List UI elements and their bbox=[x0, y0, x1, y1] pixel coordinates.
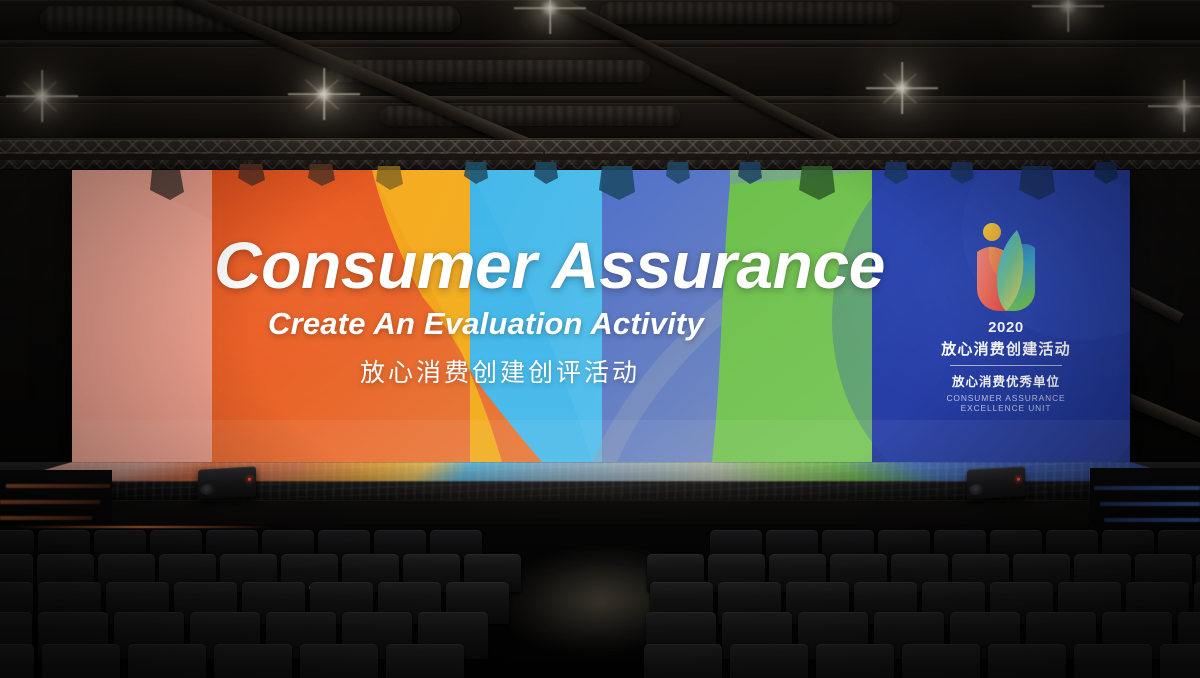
spotlight-truss-group bbox=[0, 130, 1200, 360]
speaker-grille bbox=[200, 484, 216, 496]
audience-seat bbox=[730, 644, 808, 678]
ceiling-lamp bbox=[1182, 104, 1186, 108]
speaker-grille bbox=[969, 484, 985, 496]
audience-seat bbox=[128, 644, 206, 678]
ceiling-duct bbox=[380, 106, 680, 126]
audience-seat bbox=[988, 644, 1066, 678]
speaker-led bbox=[248, 478, 251, 481]
ceiling-duct bbox=[600, 2, 900, 24]
audience-seat bbox=[902, 644, 980, 678]
stage-monitor-speaker bbox=[198, 466, 256, 499]
stair-step bbox=[1094, 486, 1200, 490]
stage-monitor-speaker bbox=[967, 466, 1025, 499]
ceiling-beam bbox=[0, 40, 1200, 47]
audience-seating bbox=[0, 524, 1200, 678]
audience-seat bbox=[1074, 644, 1152, 678]
audience-seat bbox=[1160, 644, 1200, 678]
stage-scene: Consumer Assurance Create An Evaluation … bbox=[0, 0, 1200, 678]
speaker-led bbox=[1017, 478, 1020, 481]
audience-seat bbox=[816, 644, 894, 678]
audience-seat bbox=[214, 644, 292, 678]
stair-step bbox=[0, 516, 92, 520]
ceiling-lamp bbox=[1066, 4, 1070, 8]
aisle-rail-light bbox=[10, 526, 270, 528]
audience-seat bbox=[42, 644, 120, 678]
stair-step bbox=[1100, 502, 1200, 506]
audience-seat bbox=[644, 644, 722, 678]
ceiling-lamp bbox=[548, 6, 552, 10]
stair-step bbox=[0, 500, 100, 504]
audience-seat bbox=[386, 644, 464, 678]
ceiling-beam bbox=[0, 96, 1200, 103]
stair-step bbox=[6, 484, 110, 488]
audience-seat bbox=[300, 644, 378, 678]
audience-seat bbox=[0, 644, 34, 678]
stair-step bbox=[1104, 518, 1200, 522]
